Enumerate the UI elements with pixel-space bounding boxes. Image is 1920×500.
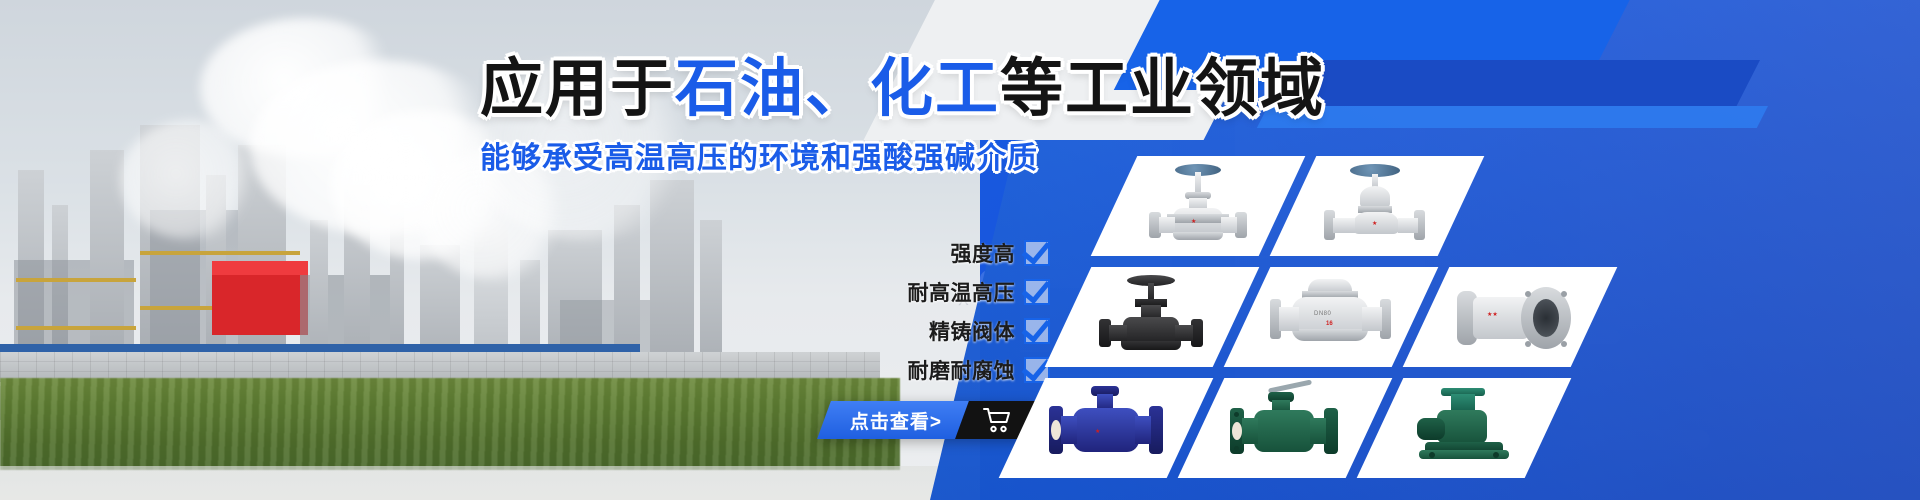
product-row: DN80 16 ★★ xyxy=(1068,267,1594,367)
feature-label: 强度高 xyxy=(951,238,1016,268)
gate-valve-image: ★ xyxy=(1123,162,1273,250)
headline-part-3: 等工业领域 xyxy=(1000,54,1325,124)
product-tile[interactable]: DN80 16 xyxy=(1224,267,1439,367)
grass-field xyxy=(0,378,900,470)
product-tile[interactable] xyxy=(1357,378,1572,478)
product-tile[interactable]: ★ xyxy=(1270,156,1485,256)
promo-banner: X 应用于石油、化工等工业领域 能够承受高温高压的环境和强酸强碱介质 强度高 耐… xyxy=(0,0,1920,500)
cta-label: 点击查看> xyxy=(850,407,942,434)
cta-button[interactable]: 点击查看> xyxy=(824,401,1032,439)
page-title: 应用于石油、化工等工业领域 xyxy=(480,58,1300,121)
product-row: ★ ★ xyxy=(1114,156,1461,256)
headline-part-highlight: 石油、化工 xyxy=(675,54,1000,124)
check-valve-dn-label: DN80 xyxy=(1314,311,1331,317)
product-grid: ★ ★ xyxy=(1022,156,1582,486)
feature-label: 精铸阀体 xyxy=(929,316,1015,346)
forged-steel-gate-valve-image xyxy=(1077,273,1227,361)
cta-label-area[interactable]: 点击查看> xyxy=(817,401,969,439)
globe-valve-image: ★ xyxy=(1302,162,1452,250)
feature-label: 耐磨耐腐蚀 xyxy=(908,355,1016,385)
product-tile[interactable] xyxy=(1178,378,1393,478)
headline-part-1: 应用于 xyxy=(480,54,675,124)
feature-list: 强度高 耐高温高压 精铸阀体 耐磨耐腐蚀 xyxy=(820,238,1050,385)
product-tile[interactable] xyxy=(1045,267,1260,367)
product-row: ★ xyxy=(1022,378,1548,478)
feature-label: 耐高温高压 xyxy=(908,277,1016,307)
wafer-check-valve-image: ★★ xyxy=(1435,273,1585,361)
flanged-ball-valve-image xyxy=(1389,384,1539,472)
product-tile[interactable]: ★★ xyxy=(1403,267,1618,367)
lined-ball-valve-image: ★ xyxy=(1031,384,1181,472)
swing-check-valve-image: DN80 16 xyxy=(1256,273,1406,361)
diagonal-stripe-secondary xyxy=(1277,60,1760,106)
check-valve-pn-label: 16 xyxy=(1326,321,1333,327)
rubber-lined-ball-valve-image xyxy=(1210,384,1360,472)
diagonal-stripe-tertiary xyxy=(1257,106,1768,128)
product-tile[interactable]: ★ xyxy=(999,378,1214,478)
product-tile[interactable]: ★ xyxy=(1091,156,1306,256)
